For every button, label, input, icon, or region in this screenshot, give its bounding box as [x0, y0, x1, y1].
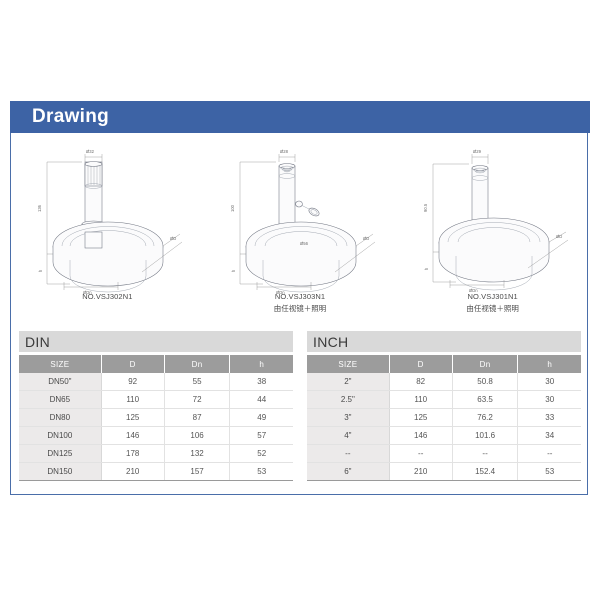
cell-d: 146	[389, 427, 452, 445]
cell-size: DN100	[19, 427, 101, 445]
technical-drawing-vsj302n1: Ø32 136 h	[22, 136, 192, 296]
drawing-caption-1: NO.VSJ302N1	[11, 291, 204, 314]
table-row: -- -- -- --	[307, 445, 581, 463]
dim-height-1: 136	[37, 204, 42, 212]
inch-table: SIZE D Dn h 2" 82 50.8 30	[307, 355, 581, 481]
cell-h: 49	[230, 409, 293, 427]
table-caption-inch: INCH	[313, 334, 348, 350]
caption-sub-2: 由任视镜＋照明	[204, 303, 397, 314]
table-row: DN100 146 106 57	[19, 427, 293, 445]
cell-d: 110	[101, 391, 164, 409]
table-row: 3" 125 76.2 33	[307, 409, 581, 427]
column-header-h: h	[230, 355, 293, 373]
cell-h: 30	[518, 373, 581, 391]
technical-drawing-vsj301n1: Ø29 90.5 h	[408, 136, 578, 296]
dim-right-2: ØD	[363, 236, 369, 241]
dim-h-1: h	[38, 269, 43, 272]
cell-dn: 55	[164, 373, 230, 391]
cell-size: DN65	[19, 391, 101, 409]
cell-h: 30	[518, 391, 581, 409]
technical-drawing-vsj303n1: Ø28 100 h	[215, 136, 385, 296]
drawing-captions-row: NO.VSJ302N1 NO.VSJ303N1 由任视镜＋照明 NO.VSJ30…	[11, 291, 589, 314]
dim-h-3: h	[424, 267, 429, 270]
page-title: Drawing	[32, 106, 109, 128]
table-row: DN80 125 87 49	[19, 409, 293, 427]
cell-dn: 76.2	[452, 409, 518, 427]
cell-h: 34	[518, 427, 581, 445]
cell-size: 4"	[307, 427, 389, 445]
cell-size: 3"	[307, 409, 389, 427]
column-header-d: D	[101, 355, 164, 373]
cell-size: --	[307, 445, 389, 463]
cell-dn: 50.8	[452, 373, 518, 391]
table-row: 2.5" 110 63.5 30	[307, 391, 581, 409]
table-header-row: SIZE D Dn h	[19, 355, 293, 373]
drawing-caption-3: NO.VSJ301N1 由任视镜＋照明	[396, 291, 589, 314]
cell-h: 57	[230, 427, 293, 445]
caption-sub-3: 由任视镜＋照明	[396, 303, 589, 314]
column-header-h: h	[518, 355, 581, 373]
table-row: DN125 178 132 52	[19, 445, 293, 463]
page-root: Drawing Ø32 136	[0, 0, 600, 600]
table-caption-bar-din: DIN	[19, 331, 293, 352]
cell-dn: 87	[164, 409, 230, 427]
dim-h-2: h	[231, 269, 236, 272]
cell-d: 210	[389, 463, 452, 481]
din-table: SIZE D Dn h DN50" 92 55 38	[19, 355, 293, 481]
cell-d: 82	[389, 373, 452, 391]
cell-h: 33	[518, 409, 581, 427]
cell-dn: 101.6	[452, 427, 518, 445]
cell-dn: --	[452, 445, 518, 463]
cell-h: 52	[230, 445, 293, 463]
cell-size: 2"	[307, 373, 389, 391]
column-header-size: SIZE	[19, 355, 101, 373]
dim-height-3: 90.5	[423, 203, 428, 212]
cell-d: 146	[101, 427, 164, 445]
drawing-caption-2: NO.VSJ303N1 由任视镜＋照明	[204, 291, 397, 314]
cell-dn: 106	[164, 427, 230, 445]
cell-size: DN80	[19, 409, 101, 427]
cell-d: --	[389, 445, 452, 463]
cell-size: DN125	[19, 445, 101, 463]
dim-height-2: 100	[230, 204, 235, 212]
caption-code-2: NO.VSJ303N1	[204, 291, 397, 302]
table-row: DN150 210 157 53	[19, 463, 293, 481]
dim-right-3: ØD	[556, 234, 562, 239]
dim-top-2: Ø28	[280, 149, 289, 154]
cell-h: 44	[230, 391, 293, 409]
cell-size: 2.5"	[307, 391, 389, 409]
column-header-d: D	[389, 355, 452, 373]
table-caption-din: DIN	[25, 334, 50, 350]
column-header-dn: Dn	[452, 355, 518, 373]
table-row: DN65 110 72 44	[19, 391, 293, 409]
table-caption-bar-inch: INCH	[307, 331, 581, 352]
cell-size: DN50"	[19, 373, 101, 391]
table-row: 4" 146 101.6 34	[307, 427, 581, 445]
cell-dn: 152.4	[452, 463, 518, 481]
content-frame: Ø32 136 h	[10, 133, 588, 495]
cell-h: 53	[230, 463, 293, 481]
cell-d: 210	[101, 463, 164, 481]
cell-dn: 72	[164, 391, 230, 409]
dim-inner-2: Ø56	[300, 241, 309, 246]
table-row: 6" 210 152.4 53	[307, 463, 581, 481]
cell-size: 6"	[307, 463, 389, 481]
section-header-bar: Drawing	[10, 101, 590, 133]
spec-tables-row: DIN SIZE D Dn h	[11, 331, 589, 481]
table-row: 2" 82 50.8 30	[307, 373, 581, 391]
table-header-row: SIZE D Dn h	[307, 355, 581, 373]
cell-d: 178	[101, 445, 164, 463]
cell-d: 110	[389, 391, 452, 409]
cell-dn: 157	[164, 463, 230, 481]
dim-top-1: Ø32	[86, 149, 95, 154]
cell-d: 125	[101, 409, 164, 427]
caption-code-1: NO.VSJ302N1	[11, 291, 204, 302]
cell-dn: 63.5	[452, 391, 518, 409]
cell-h: 53	[518, 463, 581, 481]
cell-d: 125	[389, 409, 452, 427]
spec-table-inch: INCH SIZE D Dn h	[307, 331, 581, 481]
spec-table-din: DIN SIZE D Dn h	[19, 331, 293, 481]
dim-top-3: Ø29	[473, 149, 482, 154]
cell-size: DN150	[19, 463, 101, 481]
column-header-size: SIZE	[307, 355, 389, 373]
cell-dn: 132	[164, 445, 230, 463]
cell-h: --	[518, 445, 581, 463]
cell-d: 92	[101, 373, 164, 391]
dim-right-1: ØD	[170, 236, 176, 241]
column-header-dn: Dn	[164, 355, 230, 373]
caption-code-3: NO.VSJ301N1	[396, 291, 589, 302]
cell-h: 38	[230, 373, 293, 391]
table-row: DN50" 92 55 38	[19, 373, 293, 391]
